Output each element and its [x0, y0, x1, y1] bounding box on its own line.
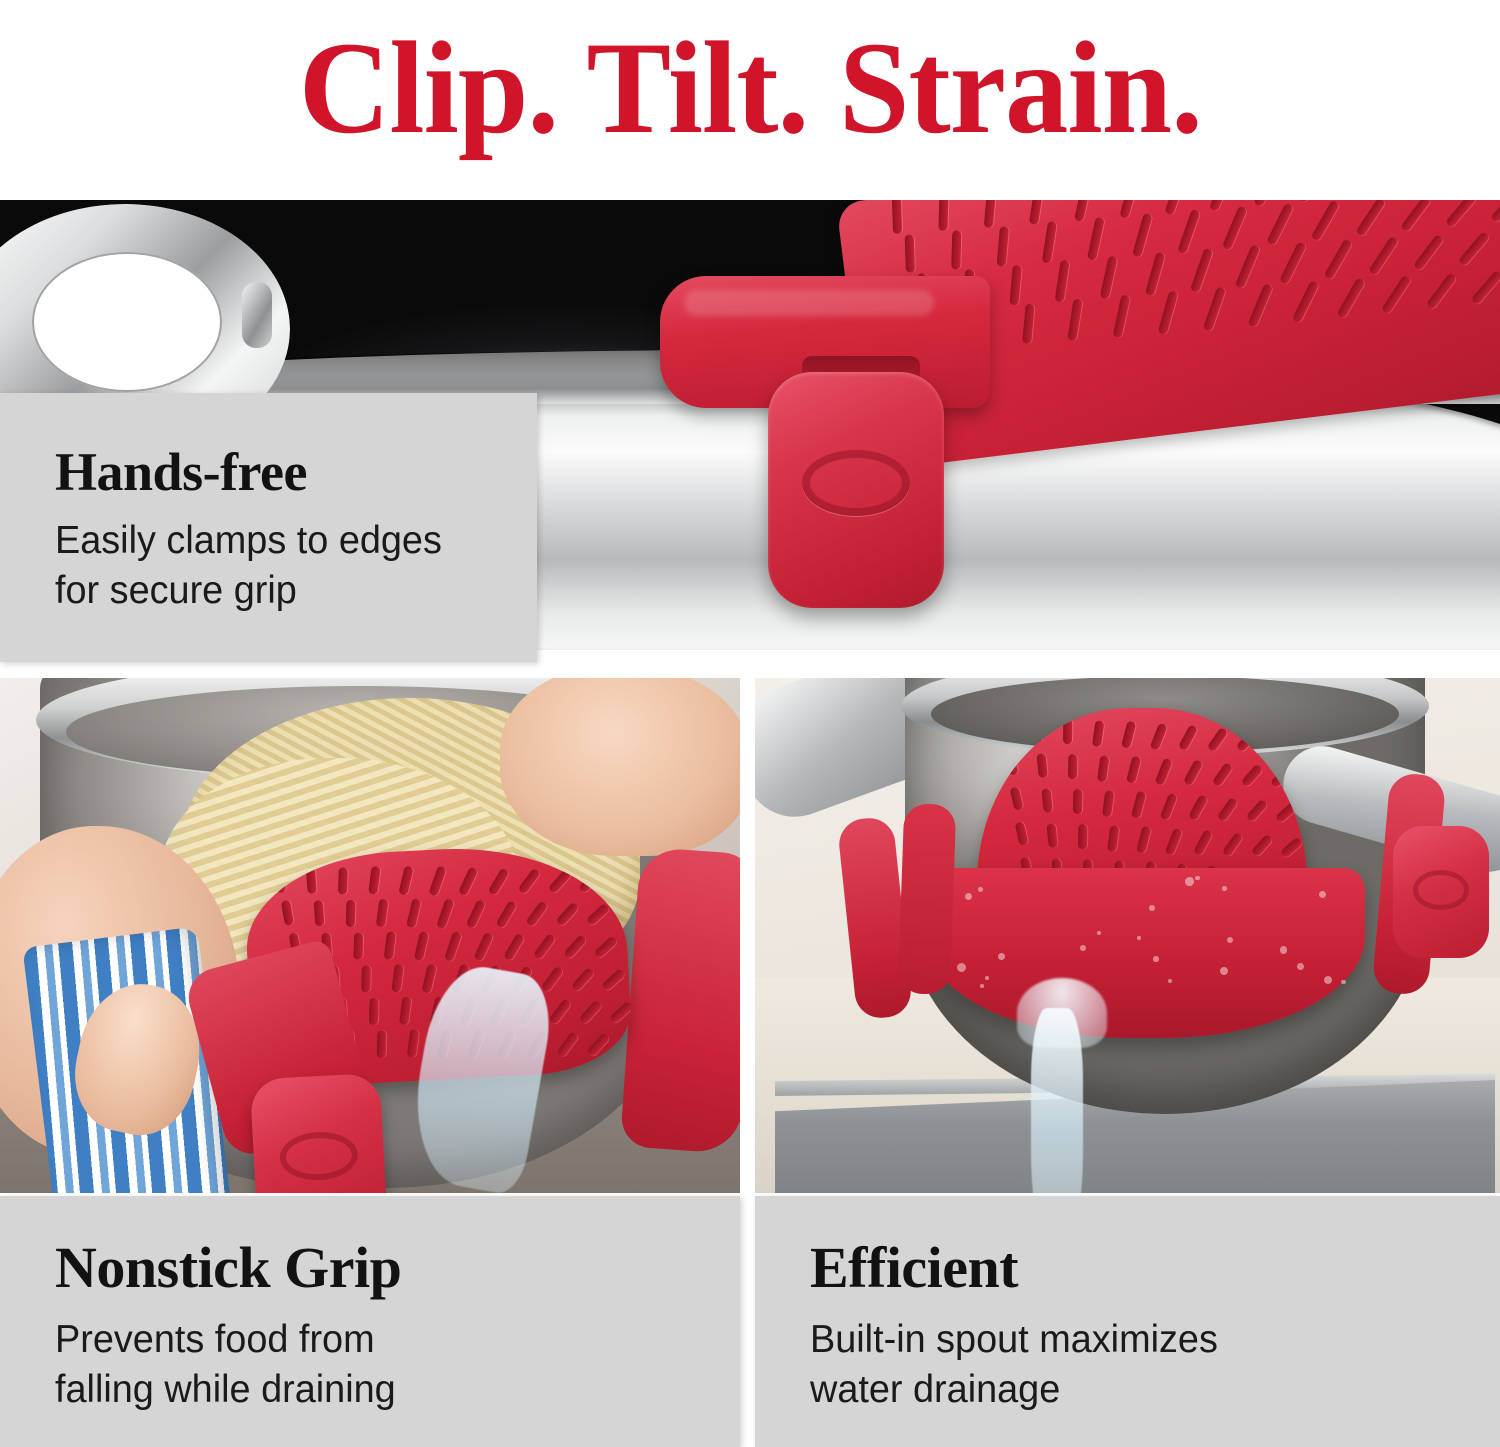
strainer-slot [407, 1030, 420, 1059]
water-stream [1031, 1008, 1083, 1193]
strainer-slot [1251, 834, 1274, 858]
strainer-slot [1121, 720, 1137, 749]
strainer-slot [518, 868, 541, 895]
strainer-slot [1107, 824, 1119, 851]
strainer-slot [1000, 716, 1014, 741]
strainer-slot [377, 1030, 387, 1057]
strainer-slot [1265, 732, 1288, 754]
strainer-slot [601, 968, 625, 991]
strainer-slot [1165, 827, 1183, 856]
strainer-arm-left-inner [898, 803, 957, 995]
strainer-slot [1279, 241, 1307, 285]
strainer-slot [563, 935, 587, 960]
strainer-clip-right [1393, 826, 1489, 958]
strainer-slot [1063, 719, 1072, 744]
feature-body-line-1: Prevents food from [55, 1315, 719, 1365]
strainer-slot [1078, 824, 1087, 849]
strainer-slot [1217, 796, 1239, 822]
strainer-slot [346, 900, 356, 927]
strainer-slot [548, 869, 572, 894]
strainer-slot [1055, 260, 1070, 303]
water-droplet [1297, 963, 1304, 970]
strainer-slot [1022, 303, 1035, 344]
strainer-slot [578, 870, 602, 893]
strainer-slot [1036, 753, 1048, 778]
strainer-slot [1368, 236, 1398, 276]
strainer-slot [1203, 286, 1226, 332]
feature-body-line-2: falling while draining [55, 1365, 719, 1415]
silicone-strainer [660, 200, 1500, 480]
strainer-slot [273, 867, 286, 893]
strainer-slot [1193, 829, 1213, 856]
feature-body-line-2: water drainage [810, 1365, 1479, 1415]
strainer-slot [1067, 299, 1082, 342]
strainer-slot [1241, 764, 1264, 788]
strainer-slot [938, 200, 948, 231]
strainer-slot [1275, 802, 1298, 824]
water-droplet [1195, 876, 1200, 881]
water-droplet [1222, 886, 1227, 891]
strainer-slot [281, 900, 294, 926]
strainer-slot [1005, 751, 1019, 776]
water-droplet [1319, 891, 1326, 898]
strainer-slot [1209, 200, 1235, 212]
strainer-wing-right [620, 847, 740, 1155]
strainer-slot [353, 932, 363, 959]
strainer-slot [1280, 837, 1303, 859]
water-droplet [1324, 976, 1332, 984]
strainer-slot [488, 867, 510, 896]
strainer-slot [1212, 761, 1234, 787]
strainer-slot [617, 1034, 634, 1057]
water-droplet [957, 963, 966, 972]
strainer-slot [368, 866, 381, 895]
strainer-slot [1188, 794, 1208, 821]
strainer-slot [458, 866, 478, 896]
strainer-slot [1126, 755, 1142, 784]
feature-photo-efficient [755, 678, 1500, 1193]
water-droplet [1185, 877, 1194, 886]
strainer-slot [1311, 200, 1340, 242]
water-droplet [1280, 946, 1288, 954]
strainer-slot [466, 899, 486, 929]
strainer-slot [1068, 754, 1077, 779]
clip-oval-grip-icon [802, 450, 910, 516]
strainer-slot [1131, 790, 1147, 819]
feature-title-hands-free: Hands-free [55, 445, 537, 500]
lip-highlight [684, 290, 934, 316]
caption-panel-nonstick-grip: Nonstick Grip Prevents food from falling… [0, 1196, 740, 1447]
water-droplet [1137, 936, 1140, 939]
strainer-slot [1236, 729, 1259, 753]
strainer-slot [548, 999, 571, 1026]
strainer-slot [1087, 217, 1105, 261]
water-droplet [1341, 980, 1345, 984]
strainer-slot [1009, 264, 1022, 305]
strainer-spout-band [925, 868, 1365, 1038]
strainer-slot [473, 931, 493, 961]
strainer-slot [1119, 200, 1140, 219]
strainer-slot [533, 933, 556, 960]
strainer-slot [1426, 272, 1457, 310]
strainer-slot [1246, 799, 1269, 823]
strainer-slot [1042, 221, 1057, 264]
silicone-strainer [895, 708, 1415, 1038]
strainer-slot [1029, 200, 1044, 225]
strainer-slot [1222, 205, 1248, 250]
strainer-slot [1113, 294, 1131, 338]
strainer-slot [1336, 277, 1365, 319]
water-droplet [1149, 905, 1155, 911]
strainer-slot [586, 1032, 610, 1057]
strainer-slot [398, 866, 413, 896]
strainer-clip [250, 1073, 389, 1193]
strainer-slot [1015, 821, 1029, 846]
feature-photo-nonstick-grip [0, 678, 740, 1193]
feature-title-nonstick-grip: Nonstick Grip [55, 1238, 740, 1297]
feature-body-hands-free: Easily clamps to edges for secure grip [55, 516, 523, 616]
water-droplet [1097, 931, 1101, 935]
strainer-slot [391, 964, 404, 993]
strainer-slot [1097, 754, 1109, 781]
feature-title-efficient: Efficient [810, 1238, 1500, 1297]
strainer-slot [369, 998, 379, 1025]
strainer-slot [306, 867, 317, 893]
strainer-slot [1222, 831, 1244, 857]
strainer-slot [384, 932, 397, 961]
strainer-slot [1150, 722, 1168, 751]
water-droplet [1080, 945, 1086, 951]
strainer-slot [1266, 202, 1294, 246]
page-title: Clip. Tilt. Strain. [298, 22, 1201, 154]
strainer-slot [571, 967, 595, 992]
strainer-slot [1073, 789, 1082, 814]
strainer-slot [951, 230, 961, 269]
feature-body-line-1: Easily clamps to edges [55, 516, 523, 566]
strainer-slot [436, 898, 454, 929]
strainer-slot [1100, 256, 1118, 300]
caption-panel-hands-free: Hands-free Easily clamps to edges for se… [0, 393, 537, 662]
strainer-slot [541, 966, 564, 993]
clip-oval-grip-icon [279, 1130, 359, 1182]
strainer-slot [1413, 233, 1444, 271]
strainer-slot [609, 1001, 633, 1024]
handle-hole [32, 252, 222, 392]
strainer-slot [1247, 283, 1273, 328]
caption-panel-efficient: Efficient Built-in spout maximizes water… [755, 1196, 1500, 1447]
strainer-slot [1490, 200, 1500, 223]
water-droplet [1153, 956, 1159, 962]
water-droplet [978, 887, 983, 892]
feature-body-line-1: Built-in spout maximizes [810, 1315, 1479, 1365]
feature-body-line-2: for secure grip [55, 566, 523, 616]
strainer-slot [361, 965, 371, 992]
water-droplet [1220, 967, 1228, 975]
strainer-slot [1164, 200, 1187, 216]
strainer-slot [428, 865, 446, 896]
strainer-slot [586, 903, 610, 926]
strainer-slot [1235, 244, 1261, 289]
strainer-slot [1145, 251, 1166, 296]
strainer-slot [1132, 213, 1153, 258]
strainer-slot [406, 898, 421, 928]
strainer-slot [1155, 757, 1173, 786]
strainer-slot [376, 899, 389, 928]
strainer-slot [399, 997, 412, 1026]
strainer-clip [768, 372, 944, 608]
strainer-slot [1471, 270, 1500, 306]
strainer-slot [555, 902, 579, 927]
strainer-slot [1253, 200, 1281, 207]
water-droplet [1227, 937, 1233, 943]
strainer-slot [1092, 719, 1104, 746]
strainer-slot [1355, 200, 1385, 237]
strainer-slot [1041, 788, 1053, 813]
water-droplet [1168, 979, 1172, 983]
strainer-slot [1158, 290, 1179, 335]
strainer-slot [1046, 823, 1058, 848]
strainer-slot [1324, 239, 1353, 281]
water-droplet [965, 893, 972, 900]
strainer-slot [1445, 200, 1477, 228]
strainer-slot [1381, 275, 1411, 315]
strainer-slot [556, 1031, 579, 1058]
strainer-slot [593, 936, 617, 959]
strainer-slot [984, 200, 997, 228]
water-droplet [998, 953, 1005, 960]
strainer-slot [1074, 200, 1092, 222]
strainer-slot [1458, 231, 1490, 267]
strainer-slot [1207, 726, 1229, 752]
strainer-slot [1160, 792, 1178, 821]
strainer-slot [892, 200, 902, 234]
strainer-slot [338, 867, 348, 894]
feature-body-nonstick-grip: Prevents food from falling while drainin… [55, 1315, 719, 1415]
strainer-slot [1400, 200, 1431, 232]
strainer-slot [414, 931, 429, 961]
clip-oval-grip-icon [1413, 870, 1469, 910]
strainer-slot [1190, 247, 1213, 293]
strainer-slot [1178, 724, 1198, 751]
strainer-slot [1270, 767, 1293, 789]
strainer-slot [905, 234, 915, 272]
strainer-slot [444, 931, 462, 962]
strainer-slot [495, 900, 517, 929]
water-droplet [985, 976, 989, 980]
strainer-slot [1102, 789, 1114, 816]
strainer-slot [314, 900, 325, 926]
strainer-slot [1136, 825, 1152, 854]
headline-banner: Clip. Tilt. Strain. [0, 0, 1500, 175]
handle-rivet [242, 282, 272, 348]
strainer-slot [1031, 718, 1043, 743]
strainer-slot [997, 226, 1010, 267]
strainer-slot [1298, 200, 1327, 203]
feature-body-efficient: Built-in spout maximizes water drainage [810, 1315, 1479, 1415]
strainer-slot [503, 932, 525, 961]
strainer-slot [421, 964, 436, 994]
strainer-slot [579, 1000, 603, 1025]
water-droplet [980, 984, 984, 988]
strainer-slot [1177, 208, 1200, 254]
strainer-slot [1183, 759, 1203, 786]
strainer-slot [525, 901, 548, 928]
strainer-slot [1292, 280, 1320, 324]
strainer-slot [1010, 786, 1024, 811]
